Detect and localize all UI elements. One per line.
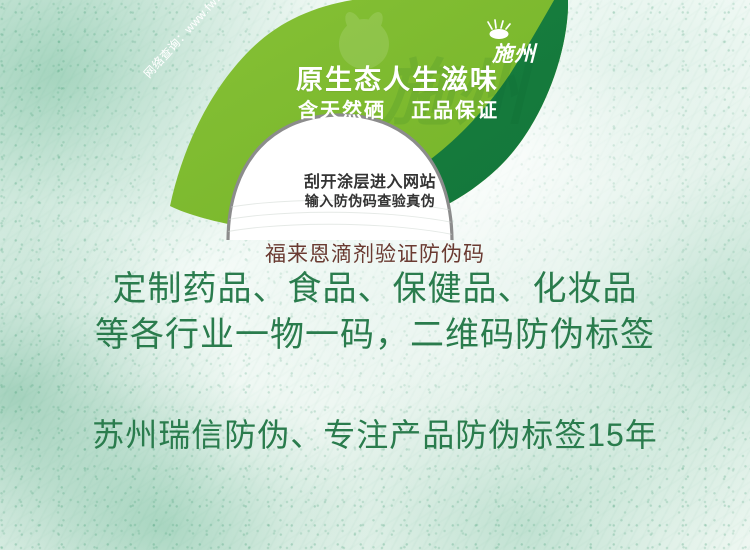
- leaf-subheadline-left: 含天然硒: [298, 100, 386, 122]
- scratch-instruction-line-2: 输入防伪码查验真伪: [240, 191, 500, 211]
- leaf-subheadline-right: 正品保证: [411, 100, 499, 122]
- promo-line-2: 等各行业一物一码，二维码防伪标签: [0, 314, 750, 358]
- promo-footer: 苏州瑞信防伪、专注产品防伪标签15年: [0, 410, 750, 456]
- brand-mark: 施州: [478, 18, 552, 70]
- scratch-instruction-line-1: 刮开涂层进入网站: [240, 168, 500, 192]
- promo-line-1: 定制药品、食品、保健品、化妆品: [0, 268, 750, 312]
- promo-kicker: 福来恩滴剂验证防伪码: [0, 244, 750, 266]
- leaf-headline: 原生态人生滋味: [296, 58, 499, 97]
- promo-copy-block: 福来恩滴剂验证防伪码 定制药品、食品、保健品、化妆品 等各行业一物一码，二维码防…: [0, 244, 750, 357]
- poster-canvas: 施州 网络查询：www.fw1860.com 原生态人生滋味 含天然硒 正品保证: [0, 0, 750, 550]
- brand-name-text: 施州: [492, 38, 536, 68]
- leaf-text-overlay: 网络查询：www.fw1860.com 原生态人生滋味 含天然硒 正品保证: [168, 0, 568, 240]
- leaf-subheadline: 含天然硒 正品保证: [298, 94, 499, 123]
- leaf-emblem: 施州 网络查询：www.fw1860.com 原生态人生滋味 含天然硒 正品保证: [168, 0, 568, 240]
